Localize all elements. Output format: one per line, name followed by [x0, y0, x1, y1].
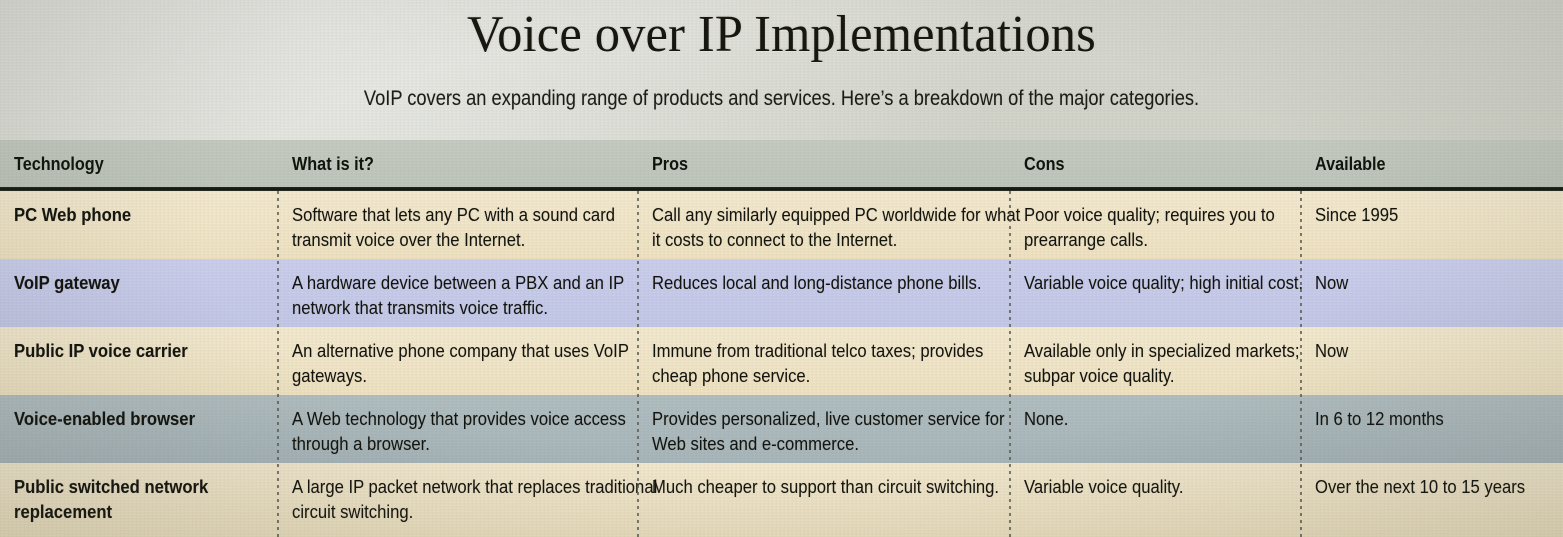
cell-pros: Provides personalized, live customer ser… — [652, 406, 1032, 456]
cell-pros: Immune from traditional telco taxes; pro… — [652, 338, 1032, 388]
cell-technology: Voice-enabled browser — [14, 406, 289, 431]
cell-available: In 6 to 12 months — [1315, 406, 1563, 431]
column-header-technology: Technology — [14, 154, 289, 174]
cell-cons: None. — [1024, 406, 1324, 431]
cell-pros: Call any similarly equipped PC worldwide… — [652, 202, 1032, 252]
column-header-pros: Pros — [652, 154, 1032, 174]
column-separator-4 — [1300, 191, 1302, 537]
cell-technology: PC Web phone — [14, 202, 289, 227]
page-subtitle: VoIP covers an expanding range of produc… — [102, 86, 1462, 112]
cell-what: Software that lets any PC with a sound c… — [292, 202, 662, 252]
cell-cons: Variable voice quality; high initial cos… — [1024, 270, 1324, 295]
cell-available: Now — [1315, 338, 1563, 363]
cell-available: Now — [1315, 270, 1563, 295]
column-header-available: Available — [1315, 154, 1563, 174]
column-separator-3 — [1009, 191, 1011, 537]
cell-cons: Available only in specialized markets; s… — [1024, 338, 1324, 388]
cell-what: A large IP packet network that replaces … — [292, 474, 662, 524]
column-header-what: What is it? — [292, 154, 662, 174]
cell-available: Since 1995 — [1315, 202, 1563, 227]
cell-pros: Much cheaper to support than circuit swi… — [652, 474, 1032, 499]
cell-pros: Reduces local and long-distance phone bi… — [652, 270, 1032, 295]
infographic-page: Voice over IP Implementations VoIP cover… — [0, 0, 1563, 537]
cell-cons: Poor voice quality; requires you to prea… — [1024, 202, 1324, 252]
cell-technology: Public switched network replacement — [14, 474, 289, 524]
column-separator-2 — [637, 191, 639, 537]
column-header-cons: Cons — [1024, 154, 1324, 174]
cell-technology: VoIP gateway — [14, 270, 289, 295]
cell-available: Over the next 10 to 15 years — [1315, 474, 1563, 499]
cell-what: A Web technology that provides voice acc… — [292, 406, 662, 456]
cell-what: An alternative phone company that uses V… — [292, 338, 662, 388]
cell-what: A hardware device between a PBX and an I… — [292, 270, 662, 320]
header-block: Voice over IP Implementations VoIP cover… — [0, 0, 1563, 140]
cell-cons: Variable voice quality. — [1024, 474, 1324, 499]
page-title: Voice over IP Implementations — [23, 2, 1539, 68]
voip-implementations-table: TechnologyWhat is it?ProsConsAvailable P… — [0, 140, 1563, 537]
cell-technology: Public IP voice carrier — [14, 338, 289, 363]
column-separator-1 — [277, 191, 279, 537]
